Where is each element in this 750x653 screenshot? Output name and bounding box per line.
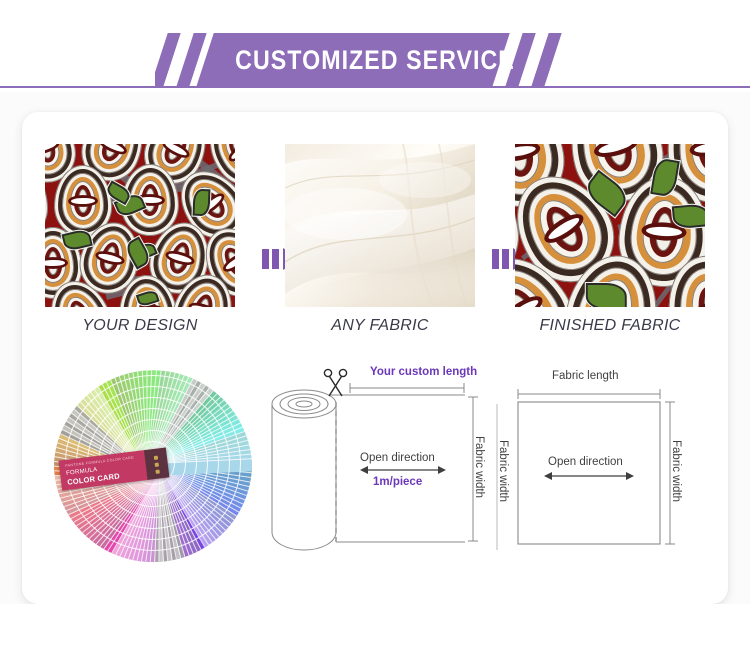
roll-diagram-svg bbox=[260, 364, 490, 564]
piece-length-label: 1m/piece bbox=[373, 476, 422, 488]
fabric-length-label: Fabric length bbox=[552, 370, 618, 382]
process-step-label-2: ANY FABRIC bbox=[285, 317, 475, 335]
process-step-label-1: YOUR DESIGN bbox=[45, 317, 235, 335]
fabric-roll-custom-cut-diagram: Your custom length Open direction 1m/pie… bbox=[260, 364, 490, 564]
content-card: YOUR DESIGN bbox=[22, 112, 728, 604]
open-direction-label-roll: Open direction bbox=[360, 452, 435, 464]
fabric-width-label-piece-right: Fabric width bbox=[670, 440, 682, 502]
fabric-width-label-roll: Fabric width bbox=[473, 436, 485, 498]
scissors-icon bbox=[324, 369, 346, 396]
specifications-row: PANTONE FORMULA COLOR CARD FORMULA COLOR… bbox=[22, 364, 728, 584]
fabric-piece-dimensions-diagram: Fabric length Open direction Fabric widt… bbox=[490, 364, 720, 564]
your-design-image bbox=[45, 144, 235, 307]
footer-space bbox=[0, 604, 750, 653]
page-header: CUSTOMIZED SERVICE bbox=[0, 0, 750, 92]
process-steps-row: YOUR DESIGN bbox=[22, 144, 728, 344]
process-step-finished-fabric: FINISHED FABRIC bbox=[515, 144, 705, 335]
any-fabric-image bbox=[285, 144, 475, 307]
process-step-label-3: FINISHED FABRIC bbox=[515, 317, 705, 335]
header-divider-rule bbox=[0, 86, 750, 88]
process-step-any-fabric: ANY FABRIC bbox=[285, 144, 475, 335]
open-direction-label-piece: Open direction bbox=[548, 456, 623, 468]
silk-drape-illustration bbox=[285, 144, 475, 307]
process-step-your-design: YOUR DESIGN bbox=[45, 144, 235, 335]
finished-fabric-image bbox=[515, 144, 705, 307]
page-title: CUSTOMIZED SERVICE bbox=[186, 33, 564, 87]
fabric-width-label-piece-left: Fabric width bbox=[497, 440, 509, 502]
header-banner: CUSTOMIZED SERVICE bbox=[155, 33, 595, 87]
custom-length-label: Your custom length bbox=[370, 366, 477, 378]
color-fan-deck-image: PANTONE FORMULA COLOR CARD FORMULA COLOR… bbox=[54, 364, 252, 562]
color-card-spine bbox=[144, 448, 169, 480]
